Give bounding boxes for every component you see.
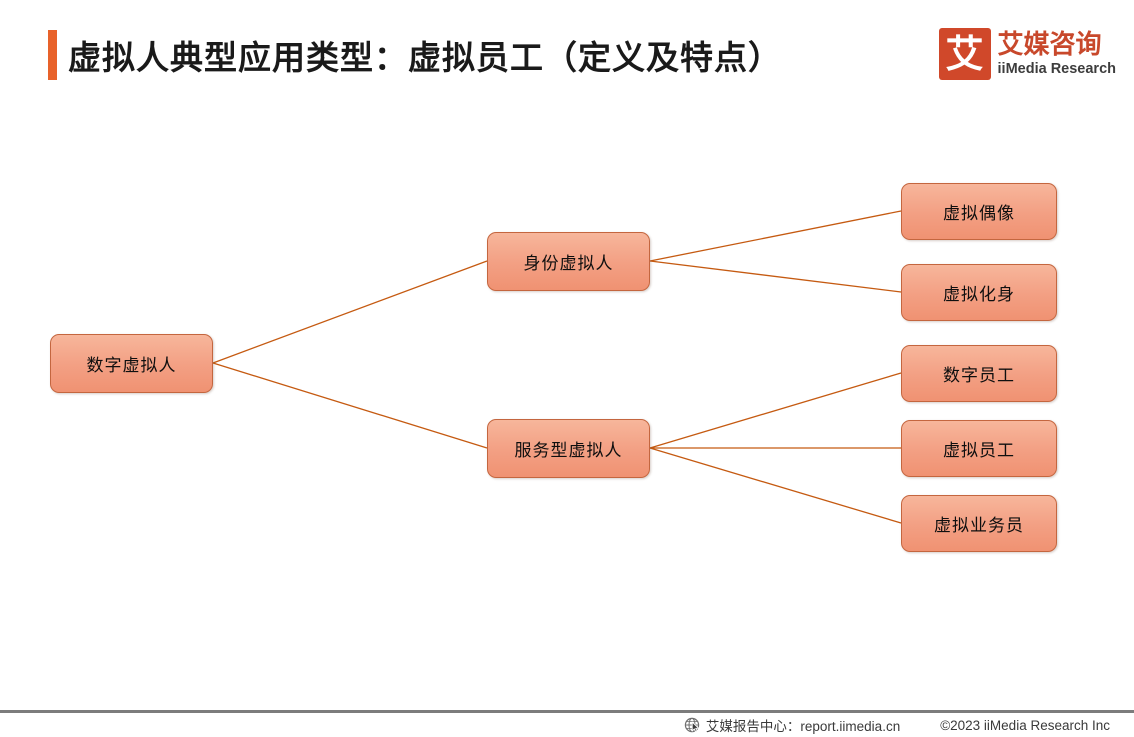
footer-content: 艾媒报告中心：report.iimedia.cn ©2023 iiMedia R…: [0, 713, 1134, 737]
globe-cursor-icon: [684, 717, 701, 734]
footer-copyright: ©2023 iiMedia Research Inc: [940, 718, 1110, 733]
org-tree-diagram: 数字虚拟人 身份虚拟人 服务型虚拟人 虚拟偶像 虚拟化身 数字员工 虚拟员工 虚…: [0, 0, 1134, 700]
slide-canvas: 虚拟人典型应用类型：虚拟员工（定义及特点） 艾 艾媒咨询 iiMedia Res…: [0, 0, 1134, 737]
node-virtual-salesperson[interactable]: 虚拟业务员: [901, 495, 1057, 552]
node-service-virtual[interactable]: 服务型虚拟人: [487, 419, 650, 478]
connector-root-to-identity: [213, 261, 487, 363]
connector-identity-to-idol: [650, 211, 901, 261]
node-root[interactable]: 数字虚拟人: [50, 334, 213, 393]
node-digital-employee[interactable]: 数字员工: [901, 345, 1057, 402]
slide-footer: 艾媒报告中心：report.iimedia.cn ©2023 iiMedia R…: [0, 700, 1134, 737]
connector-service-to-digital-staff: [650, 373, 901, 448]
node-virtual-avatar[interactable]: 虚拟化身: [901, 264, 1057, 321]
connector-root-to-service: [213, 363, 487, 448]
node-virtual-employee[interactable]: 虚拟员工: [901, 420, 1057, 477]
node-virtual-idol[interactable]: 虚拟偶像: [901, 183, 1057, 240]
connector-service-to-salesperson: [650, 448, 901, 523]
node-identity-virtual[interactable]: 身份虚拟人: [487, 232, 650, 291]
footer-report-center[interactable]: 艾媒报告中心：report.iimedia.cn: [684, 715, 900, 735]
footer-report-text: 艾媒报告中心：report.iimedia.cn: [706, 715, 900, 735]
connector-identity-to-avatar: [650, 261, 901, 292]
